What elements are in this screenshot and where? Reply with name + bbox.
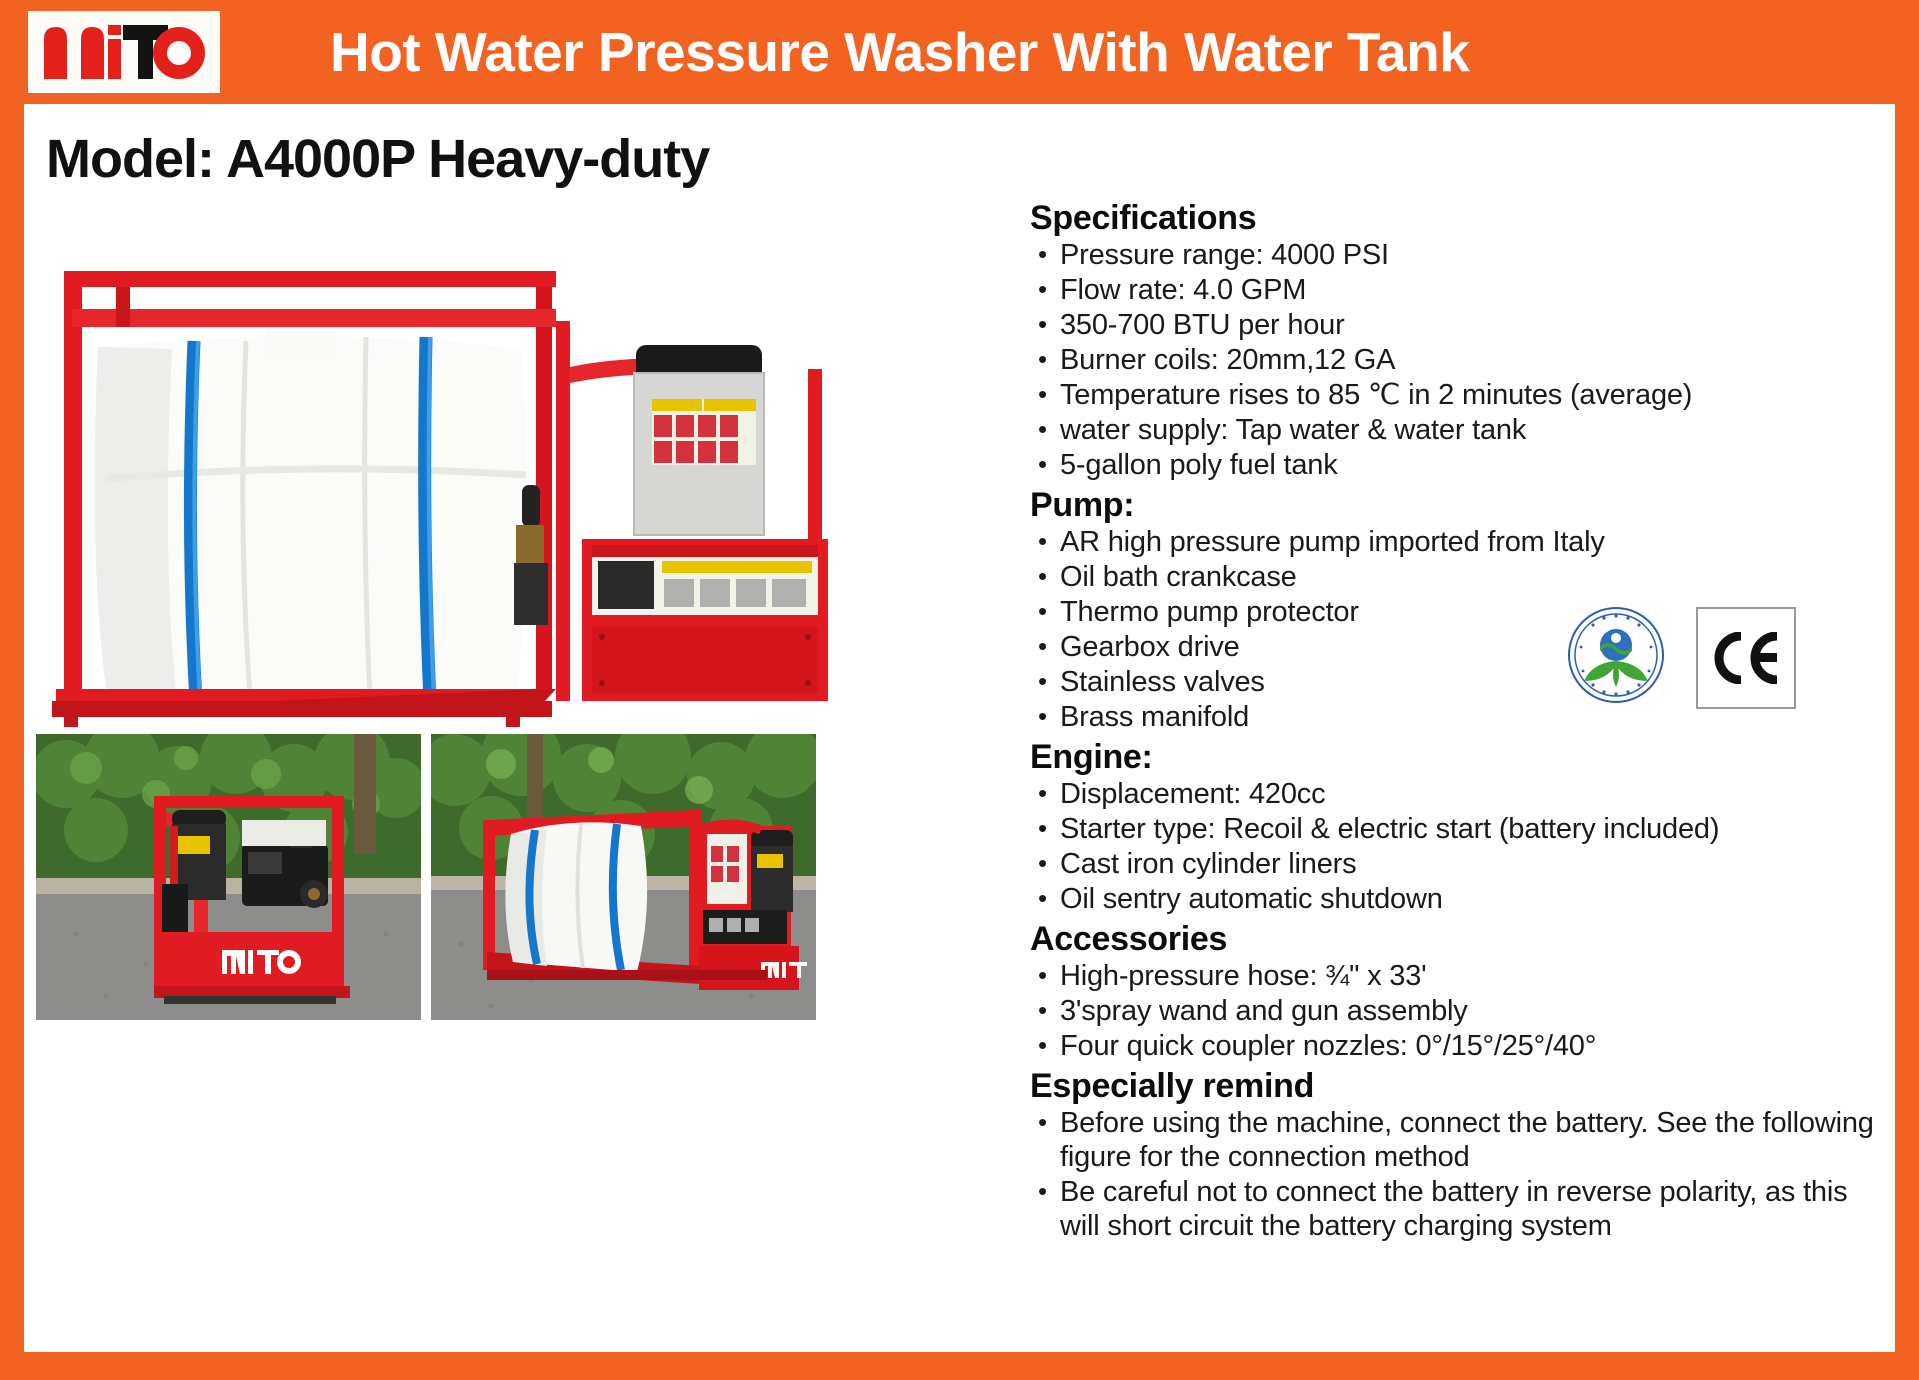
thumbnail-1-illustration [36, 734, 421, 1020]
list-accessories: High-pressure hose: ¾" x 33' 3'spray wan… [1030, 959, 1880, 1063]
thumbnail-gallery [36, 734, 1026, 1024]
list-item: Four quick coupler nozzles: 0°/15°/25°/4… [1030, 1029, 1880, 1063]
section-heading-specifications: Specifications [1030, 199, 1880, 237]
list-item: Oil sentry automatic shutdown [1030, 882, 1880, 916]
section-heading-especially-remind: Especially remind [1030, 1067, 1880, 1105]
certification-badges [1566, 605, 1826, 710]
list-item: Burner coils: 20mm,12 GA [1030, 343, 1880, 377]
list-item: 350-700 BTU per hour [1030, 308, 1880, 342]
list-item: 5-gallon poly fuel tank [1030, 448, 1880, 482]
brand-logo [28, 11, 220, 93]
list-item: 3'spray wand and gun assembly [1030, 994, 1880, 1028]
list-specifications: Pressure range: 4000 PSI Flow rate: 4.0 … [1030, 238, 1880, 482]
product-photo-angle-tank[interactable] [431, 734, 816, 1020]
list-item: Be careful not to connect the battery in… [1030, 1175, 1880, 1243]
model-heading: Model: A4000P Heavy-duty [46, 128, 709, 190]
content-panel: Model: A4000P Heavy-duty [24, 104, 1895, 1352]
main-product-illustration [36, 249, 1026, 729]
list-item: Displacement: 420cc [1030, 777, 1880, 811]
thumbnail-2-illustration [431, 734, 816, 1020]
list-item: Oil bath crankcase [1030, 560, 1880, 594]
list-item: AR high pressure pump imported from Ital… [1030, 525, 1880, 559]
product-spec-sheet: Hot Water Pressure Washer With Water Tan… [0, 0, 1919, 1380]
list-item: Cast iron cylinder liners [1030, 847, 1880, 881]
list-item: Temperature rises to 85 ℃ in 2 minutes (… [1030, 378, 1880, 412]
list-item: Flow rate: 4.0 GPM [1030, 273, 1880, 307]
list-item: Pressure range: 4000 PSI [1030, 238, 1880, 272]
page-header: Hot Water Pressure Washer With Water Tan… [0, 0, 1919, 104]
product-photo-front-engine[interactable] [36, 734, 421, 1020]
main-product-photo [36, 249, 1026, 729]
section-heading-engine: Engine: [1030, 738, 1880, 776]
epa-seal-icon [1566, 605, 1666, 705]
list-item: Before using the machine, connect the ba… [1030, 1106, 1880, 1174]
mto-logo-icon [40, 21, 208, 83]
section-heading-accessories: Accessories [1030, 920, 1880, 958]
section-heading-pump: Pump: [1030, 486, 1880, 524]
page-title: Hot Water Pressure Washer With Water Tan… [330, 12, 1890, 92]
list-item: High-pressure hose: ¾" x 33' [1030, 959, 1880, 993]
list-item: Starter type: Recoil & electric start (b… [1030, 812, 1880, 846]
specifications-column: Specifications Pressure range: 4000 PSI … [1030, 199, 1880, 1339]
list-item: water supply: Tap water & water tank [1030, 413, 1880, 447]
list-engine: Displacement: 420cc Starter type: Recoil… [1030, 777, 1880, 916]
list-especially-remind: Before using the machine, connect the ba… [1030, 1106, 1880, 1243]
ce-mark-icon [1696, 607, 1796, 709]
